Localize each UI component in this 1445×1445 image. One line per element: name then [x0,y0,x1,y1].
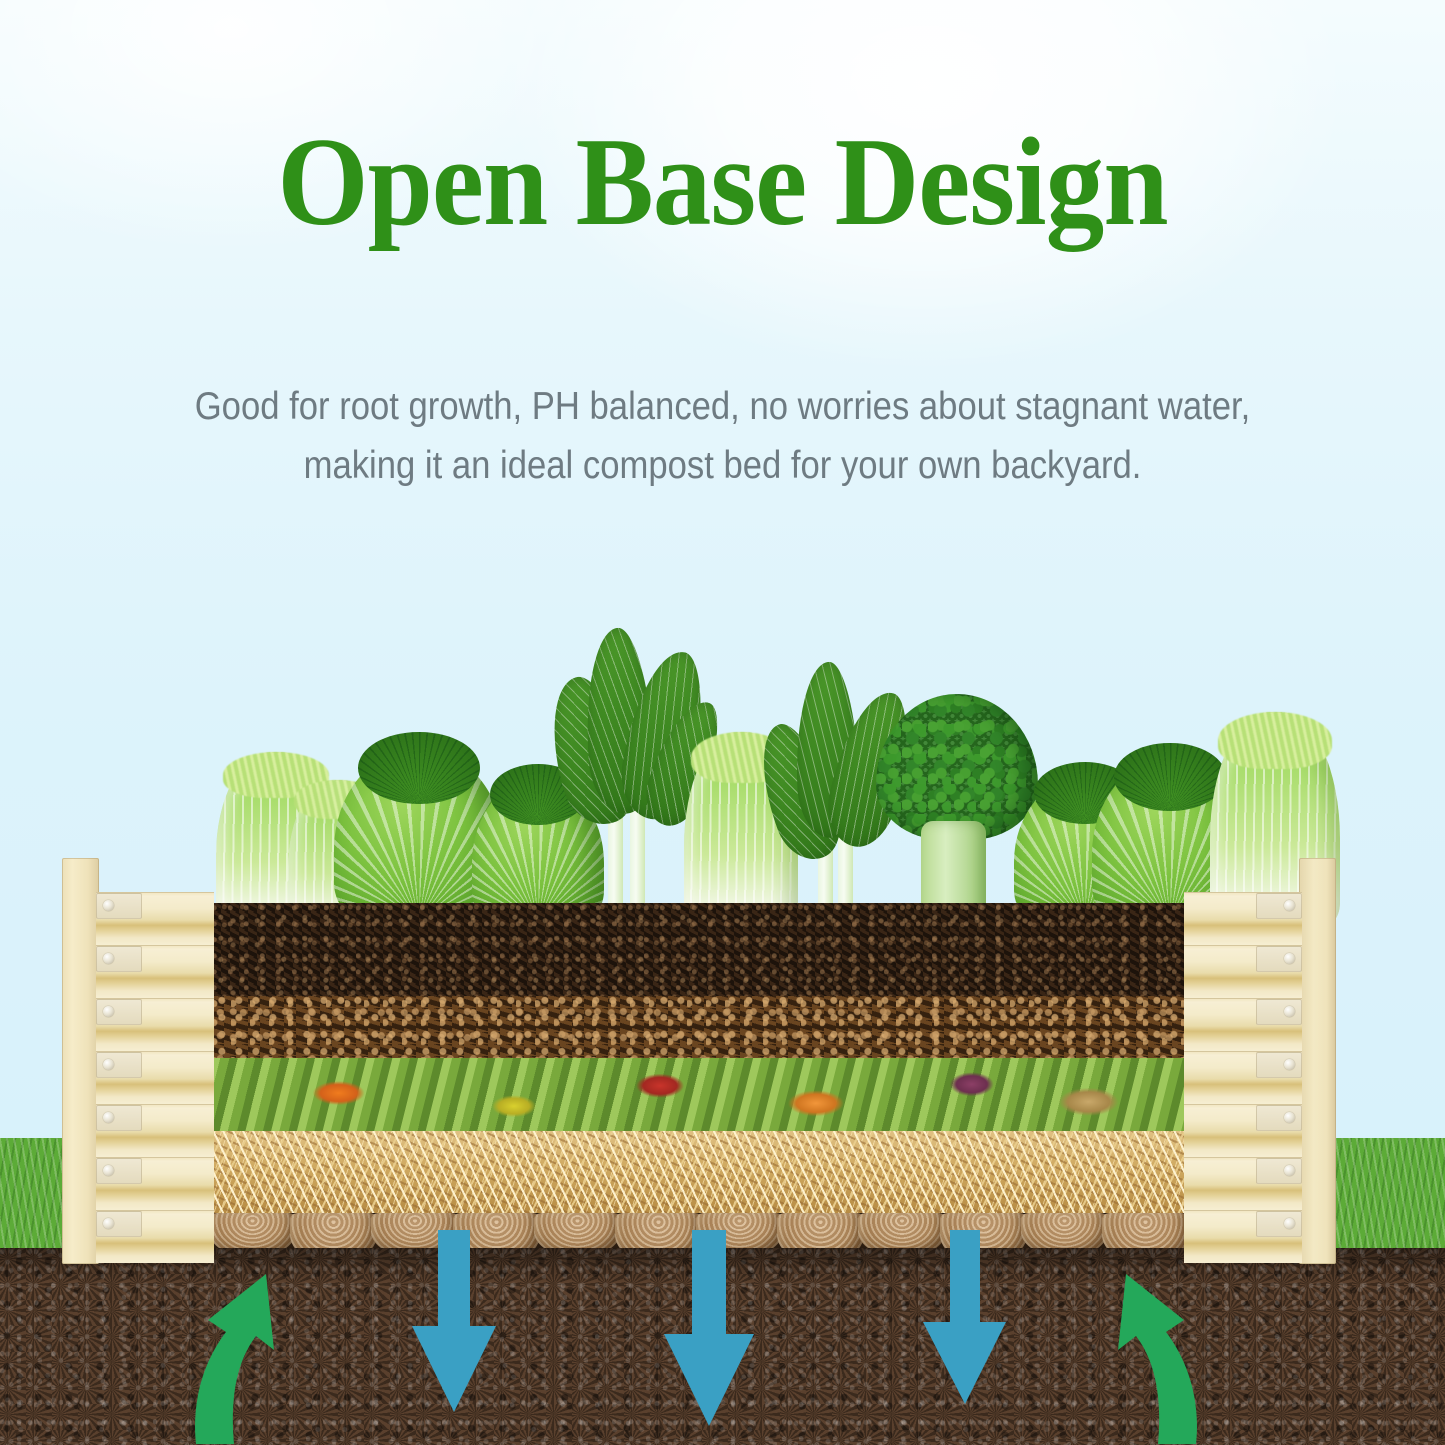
product-feature-image: Open Base Design Good for root growth, P… [0,0,1445,1445]
panel-screw [103,1112,114,1123]
panel-screw [103,900,114,911]
bed-panel-slat [96,892,214,945]
bed-panel-slat [96,1157,214,1210]
panel-screw [103,953,114,964]
panel-screw [103,1165,114,1176]
bed-panel-slat [1184,945,1302,998]
bed-panel-flange [1256,1105,1302,1131]
panel-screw [1284,1006,1295,1017]
bed-corner-post [1299,858,1336,1264]
root-growth-arrow-right [1064,1258,1214,1445]
airflow-arrows [0,1230,1445,1445]
broccoli-head [876,694,1038,840]
bed-panel-flange [1256,946,1302,972]
drainage-arrow-1 [408,1230,498,1415]
bed-panel-slat [1184,1051,1302,1104]
bed-panel-slats [96,892,214,1264]
raised-bed-right-panel [1184,858,1336,1264]
bed-panel-slat [1184,1104,1302,1157]
bed-panel-slat [1184,1157,1302,1210]
bed-panel-flange [1256,1158,1302,1184]
root-growth-arrow-left [178,1258,328,1445]
bed-panel-slat [96,945,214,998]
layer-bark-mulch [212,996,1186,1058]
panel-screw [103,1006,114,1017]
bed-panel-flange [1256,999,1302,1025]
bed-panel-slat [1184,892,1302,945]
panel-screw [1284,1165,1295,1176]
panel-screw [1284,1059,1295,1070]
bed-panel-slat [96,998,214,1051]
raised-bed-left-panel [62,858,214,1264]
bed-panel-slat [96,1104,214,1157]
layer-vegetable-scraps [212,1058,1186,1131]
bed-panel-flange [1256,1052,1302,1078]
panel-screw [1284,1112,1295,1123]
bed-cross-section [212,903,1186,1269]
bed-corner-post [62,858,99,1264]
cabbage-crown [358,732,480,805]
layer-compost-soil [212,903,1186,996]
raised-bed-illustration [0,0,1445,1445]
panel-screw [1284,900,1295,911]
drainage-arrow-3 [920,1230,1008,1408]
panel-screw [1284,953,1295,964]
panel-screw [1284,1218,1295,1229]
panel-screw [103,1218,114,1229]
bed-panel-slats [1184,892,1302,1264]
cabbage-crown [1114,743,1226,812]
bed-panel-slat [96,1051,214,1104]
drainage-arrow-2 [660,1230,756,1430]
panel-screw [103,1059,114,1070]
layer-straw [212,1131,1186,1213]
bed-panel-slat [1184,998,1302,1051]
bed-panel-flange [1256,893,1302,919]
